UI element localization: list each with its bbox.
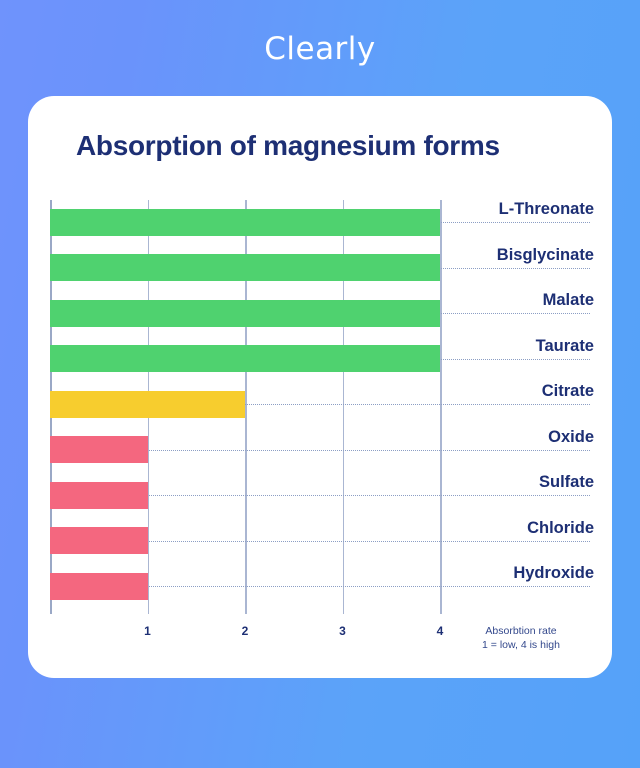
bar-chloride <box>50 527 148 554</box>
axis-caption-line1: Absorbtion rate <box>446 624 596 638</box>
bar-oxide <box>50 436 148 463</box>
category-label-hydroxide: Hydroxide <box>513 564 594 583</box>
x-tick-label-3: 3 <box>328 624 358 638</box>
category-label-l-threonate: L-Threonate <box>499 200 594 219</box>
category-label-oxide: Oxide <box>548 428 594 447</box>
category-label-malate: Malate <box>543 291 594 310</box>
brand-header: Clearly <box>0 0 640 98</box>
bar-taurate <box>50 345 440 372</box>
bar-hydroxide <box>50 573 148 600</box>
gridline-4 <box>440 200 442 614</box>
bar-l-threonate <box>50 209 440 236</box>
category-label-taurate: Taurate <box>536 337 594 356</box>
category-label-citrate: Citrate <box>542 382 594 401</box>
x-tick-label-2: 2 <box>230 624 260 638</box>
plot-area <box>50 200 440 614</box>
bar-citrate <box>50 391 245 418</box>
category-label-sulfate: Sulfate <box>539 473 594 492</box>
absorption-bar-chart: L-ThreonateBisglycinateMalateTaurateCitr… <box>28 96 612 678</box>
axis-caption: Absorbtion rate 1 = low, 4 is high <box>446 624 596 652</box>
bar-bisglycinate <box>50 254 440 281</box>
clearly-logo: Clearly <box>264 31 376 67</box>
bar-sulfate <box>50 482 148 509</box>
axis-caption-line2: 1 = low, 4 is high <box>446 638 596 652</box>
bar-malate <box>50 300 440 327</box>
category-label-bisglycinate: Bisglycinate <box>497 246 594 265</box>
x-tick-label-1: 1 <box>133 624 163 638</box>
category-label-chloride: Chloride <box>527 519 594 538</box>
chart-card: Absorption of magnesium forms L-Threonat… <box>28 96 612 678</box>
